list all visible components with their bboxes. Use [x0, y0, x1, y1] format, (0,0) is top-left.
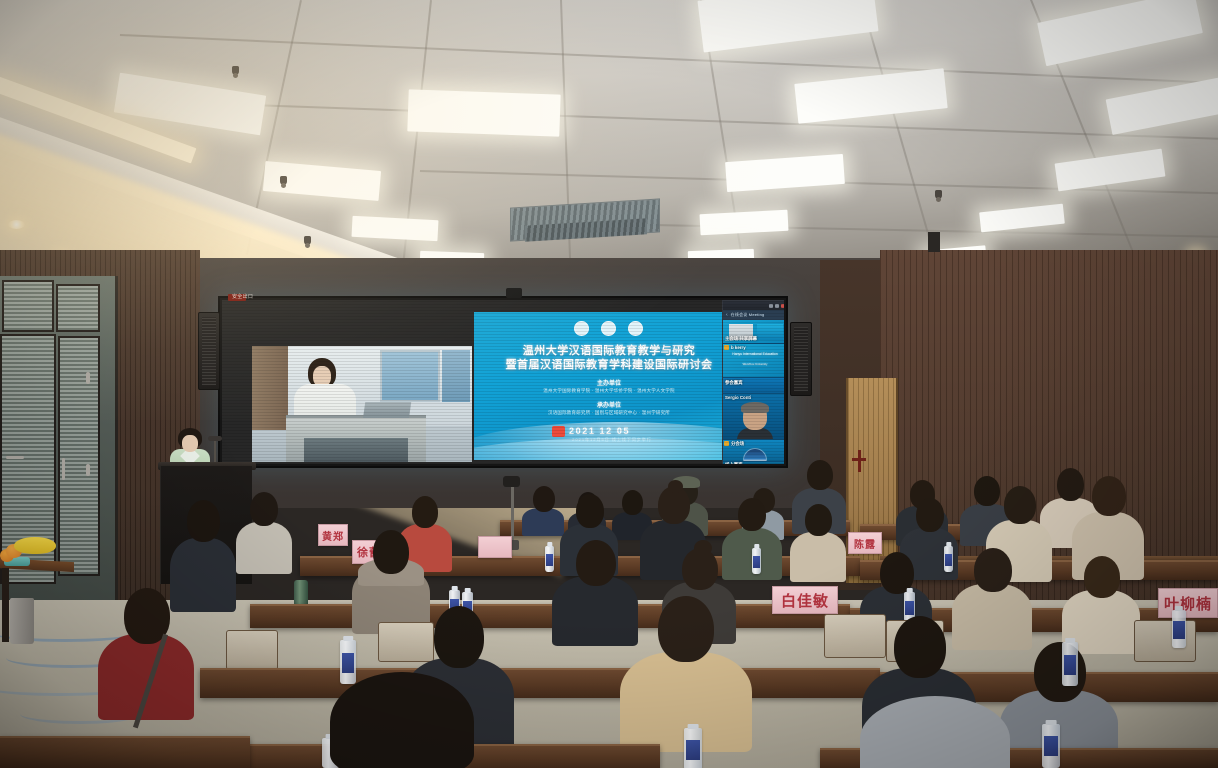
- person-head: [1084, 556, 1120, 598]
- person-head: [738, 498, 766, 531]
- waste-bin: [10, 598, 34, 644]
- person-head: [250, 492, 278, 526]
- ceiling-projector-camera: [506, 288, 522, 298]
- screen-display-area: 温州大学汉语国际教育教学与研究 暨首届汉语国际教育学科建设国际研讨会 主办单位 …: [222, 300, 784, 464]
- desk-row: [250, 604, 850, 628]
- calendar-icon: [552, 426, 565, 437]
- person-head: [1092, 476, 1126, 516]
- person-head: [1034, 642, 1086, 702]
- transom-glass-pane: [2, 280, 54, 332]
- minimize-icon[interactable]: [769, 304, 773, 308]
- bottle-cap: [906, 588, 913, 593]
- person-head: [330, 672, 474, 768]
- person-head: [860, 696, 1010, 768]
- transom-glass-pane: [56, 284, 100, 332]
- name-placard: 黄郑: [318, 524, 348, 546]
- audience-member: [860, 696, 1010, 768]
- vc-participant-name: b kerry: [731, 345, 746, 350]
- bottle-label: [945, 554, 952, 566]
- person-head: [1004, 486, 1036, 524]
- bottle-cap: [343, 636, 353, 641]
- institute-logo-icon: [628, 321, 643, 336]
- bottle-label: [342, 653, 355, 673]
- person-head: [373, 530, 409, 574]
- bottle-cap: [1065, 638, 1075, 643]
- maximize-icon[interactable]: [775, 304, 779, 308]
- presentation-slide: 温州大学汉语国际教育教学与研究 暨首届汉语国际教育学科建设国际研讨会 主办单位 …: [474, 312, 744, 460]
- desk-row: [200, 668, 880, 698]
- bottle-label: [1173, 621, 1184, 639]
- side-table-leg: [2, 568, 9, 642]
- bottle-cap: [1175, 606, 1183, 611]
- vc-participant-name: 线上嘉宾: [725, 462, 743, 464]
- sprinkler-head: [232, 66, 239, 75]
- water-bottle: [1062, 642, 1078, 686]
- slide-date-text: 2021 12 05: [569, 426, 630, 436]
- slide-host-label: 主办单位: [474, 378, 744, 387]
- led-wall-screen[interactable]: 温州大学汉语国际教育教学与研究 暨首届汉语国际教育学科建设国际研讨会 主办单位 …: [218, 296, 788, 468]
- sprinkler-head: [935, 190, 942, 199]
- podium-camera-feed: [252, 346, 472, 462]
- bottle-cap: [1046, 720, 1057, 725]
- ceiling-panel-light: [697, 0, 878, 53]
- bottle-cap: [946, 542, 951, 547]
- person-head: [533, 486, 555, 512]
- ceiling-panel-light: [1106, 77, 1218, 135]
- vc-header-bar[interactable]: ‹ 在线会议 Meeting: [723, 310, 784, 320]
- vc-participant-tile[interactable]: Hanyu International Education Wenzhou Un…: [723, 344, 784, 378]
- bottle-label: [1064, 655, 1077, 675]
- chair: [1134, 620, 1196, 662]
- ceiling-grid-line: [250, 104, 1218, 139]
- glass-door-right[interactable]: [58, 336, 100, 576]
- slide-title-line-2: 暨首届汉语国际教育学科建设国际研讨会: [480, 356, 738, 372]
- vc-slide-body: Wenzhou University: [727, 362, 783, 366]
- wall-speaker-right: [790, 322, 812, 396]
- exit-sign-label: 安全出口: [232, 293, 253, 300]
- door-hinge: [86, 464, 90, 476]
- person-head: [412, 496, 438, 528]
- bottle-label: [905, 601, 914, 615]
- person-head: [916, 498, 944, 532]
- microphone-head: [208, 436, 222, 441]
- bottle-cap: [451, 586, 458, 591]
- vc-participant-hair: [741, 402, 769, 413]
- audience-member: [522, 486, 564, 532]
- vc-title-bar[interactable]: [723, 301, 784, 310]
- name-placard: 叶柳楠: [1158, 588, 1218, 618]
- chair: [226, 630, 278, 670]
- globe-icon: [743, 448, 767, 462]
- slide-date-subtext: 2021年12月5日 线上线下同步举行: [562, 437, 662, 443]
- slide-cohost-label: 承办单位: [474, 400, 744, 409]
- audience-member: [236, 492, 292, 570]
- desk-row: [0, 736, 250, 768]
- slide-cohost-text: 汉语国际教育研究所 · 国别与区域研究中心 · 温州学研究所: [474, 410, 744, 416]
- slide-logo-row: [574, 321, 654, 337]
- door-handle-vertical[interactable]: [858, 450, 861, 472]
- person-head: [576, 494, 604, 528]
- slide-date-row: 2021 12 05: [552, 424, 672, 438]
- vc-participant-tile[interactable]: 主会场 共享屏幕: [723, 320, 784, 344]
- vc-participant-name: 参会嘉宾: [725, 380, 743, 386]
- door-hinge: [86, 372, 90, 384]
- name-placard: [478, 536, 512, 558]
- close-icon[interactable]: [781, 304, 784, 308]
- ceiling-panel-light: [979, 204, 1065, 233]
- vc-slide-thumb: [757, 324, 783, 340]
- ceiling-panel-light: [700, 210, 789, 236]
- bottle-label: [753, 556, 760, 568]
- wall-speaker-left: [198, 312, 220, 390]
- audience-member: [620, 596, 752, 746]
- audience-member: [330, 672, 474, 768]
- feed-wood-panel: [252, 346, 288, 430]
- water-bottle: [684, 728, 702, 768]
- person-hair-bun: [668, 480, 683, 493]
- vc-participant-name: Sergio Conti: [725, 395, 751, 400]
- bottle-label: [1044, 736, 1058, 756]
- person-head: [434, 606, 484, 668]
- ceiling-panel-light: [794, 68, 947, 123]
- feed-window: [380, 350, 440, 402]
- person-head: [187, 500, 220, 542]
- feed-lectern-front: [304, 438, 408, 462]
- person-body: [790, 532, 846, 582]
- vc-window-title: 在线会议 Meeting: [731, 312, 765, 318]
- vc-participant-video: [737, 404, 773, 440]
- person-body: [522, 508, 564, 536]
- back-arrow-icon[interactable]: ‹: [726, 313, 728, 318]
- bottle-cap: [754, 544, 759, 549]
- vc-participant-tile[interactable]: 参会嘉宾: [723, 378, 784, 394]
- person-head: [974, 548, 1012, 592]
- person-body: [236, 522, 292, 574]
- bottle-cap: [464, 588, 471, 593]
- ceiling-panel-light: [1055, 149, 1166, 192]
- banana-bunch: [14, 537, 56, 554]
- ceiling-grid-line: [560, 0, 572, 300]
- presenter-face: [182, 435, 198, 452]
- recessed-downlight: [8, 220, 25, 229]
- vc-participant-tile[interactable]: Sergio Conti: [723, 394, 784, 440]
- vc-participant-name: 分会场: [731, 441, 744, 447]
- sprinkler-head: [304, 236, 311, 245]
- vc-participant-tile[interactable]: 分会场: [723, 440, 784, 462]
- person-head: [807, 460, 833, 490]
- ceiling-panel-light: [407, 89, 560, 136]
- university-logo-icon: [574, 321, 589, 336]
- person-head: [894, 616, 946, 678]
- water-bottle: [752, 548, 761, 574]
- sprinkler-head: [280, 176, 287, 185]
- vc-slide-heading: Hanyu International Education: [727, 352, 783, 356]
- mic-muted-icon: [724, 441, 729, 446]
- mic-muted-icon: [724, 345, 729, 350]
- ceiling-panel-light: [352, 216, 439, 241]
- feed-window: [442, 350, 470, 402]
- bottle-label: [686, 740, 700, 760]
- bottle-cap: [688, 724, 699, 729]
- person-head: [658, 596, 714, 662]
- floor-microphone-head: [503, 476, 520, 487]
- water-bottle: [1172, 610, 1186, 648]
- slide-host-text: 温州大学国际教育学院 · 温州大学华侨学院 · 温州大学人文学院: [474, 388, 744, 394]
- audience-member: [1062, 556, 1140, 648]
- door-handle[interactable]: [6, 456, 24, 459]
- person-hair-bun: [694, 540, 712, 556]
- ceiling-panel-light: [1037, 0, 1203, 66]
- water-bottle: [1042, 724, 1060, 768]
- vc-participant-tile[interactable]: 线上嘉宾: [723, 462, 784, 464]
- door-handle[interactable]: [62, 458, 65, 480]
- name-placard: 陈露: [848, 532, 882, 554]
- conference-hall-photo: 温州大学汉语国际教育教学与研究 暨首届汉语国际教育学科建设国际研讨会 主办单位 …: [0, 0, 1218, 768]
- person-head: [576, 540, 616, 586]
- person-head: [805, 504, 832, 536]
- name-placard: 白佳敏: [772, 586, 838, 614]
- audience-member: [790, 504, 846, 578]
- ceiling-panel-light: [725, 154, 845, 192]
- video-conference-window[interactable]: ‹ 在线会议 Meeting 主会场 共享屏幕 Hanyu Internatio…: [722, 300, 784, 464]
- person-body: [98, 634, 194, 720]
- college-logo-icon: [601, 321, 616, 336]
- vc-participant-name: 主会场 共享屏幕: [725, 336, 757, 342]
- ceiling-mount-bracket: [928, 232, 940, 252]
